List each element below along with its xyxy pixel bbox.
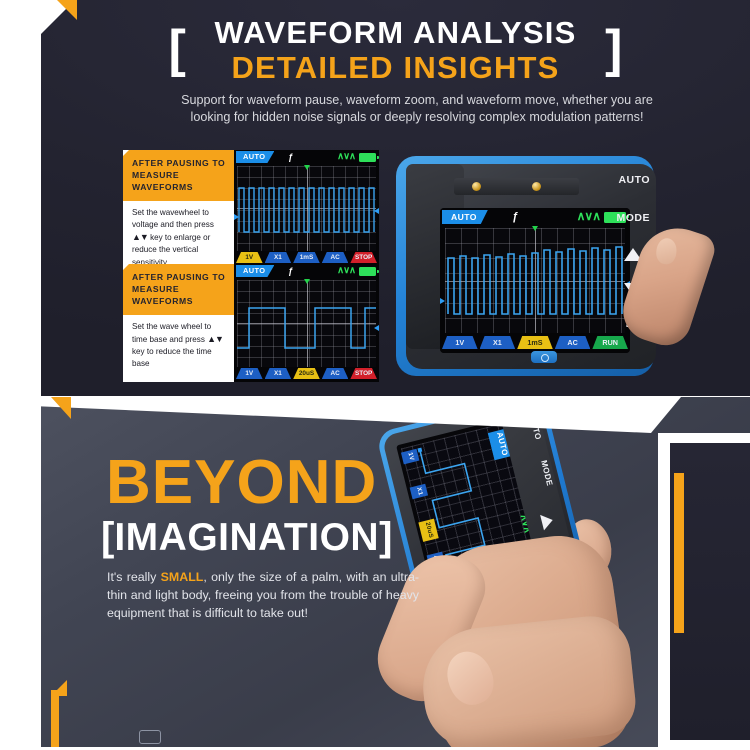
bnc-connector-icon	[472, 182, 481, 191]
next-section-strip	[658, 433, 750, 750]
device-power-button[interactable]	[531, 351, 557, 363]
device-key-mode-rotated[interactable]: MODE	[539, 459, 554, 487]
device-btn-probe[interactable]: X1	[480, 336, 516, 349]
scope-btn-coupling-1[interactable]: AC	[322, 252, 349, 263]
callout-card-2: AFTER PAUSING TO MEASURE WAVEFORMS Set t…	[123, 264, 236, 382]
device-scope-display: AUTO ƒ ∧∨∧ 1V X1 1mS AC RUN	[440, 208, 630, 353]
device-btn-volts[interactable]: 1V	[442, 336, 478, 349]
mini-scope-screen-1: AUTO ƒ ∧∨∧ 1V X1 1mS AC STOP	[234, 150, 379, 266]
scope-display-2: AUTO ƒ ∧∨∧ 1V X1 20uS AC STOP	[234, 264, 379, 382]
device-body: AUTO ƒ ∧∨∧ 1V X1 1mS AC RUN	[406, 164, 656, 369]
beyond-imagination-section: AUTO 1V X1 20uS AC RUN ∧∨∧ AUTO MODE	[41, 397, 750, 750]
scope-btn-volts-1[interactable]: 1V	[236, 252, 263, 263]
bottom-headline-row: [IMAGINATION]	[101, 515, 392, 560]
thumbnail	[440, 645, 501, 712]
callout-card-1-heading: AFTER PAUSING TO MEASURE WAVEFORMS	[123, 150, 236, 201]
waveform-icon: ∧∨∧	[577, 211, 600, 221]
bracket-left-icon: [	[168, 23, 185, 75]
callout-card-2-heading: AFTER PAUSING TO MEASURE WAVEFORMS	[123, 264, 236, 315]
battery-full-icon	[359, 153, 376, 162]
scope-display-1: AUTO ƒ ∧∨∧ 1V X1 1mS AC STOP	[234, 150, 379, 266]
up-down-keys-icon: ▲▼	[207, 334, 223, 344]
frequency-icon: ƒ	[288, 151, 293, 163]
device-mode-badge[interactable]: AUTO	[442, 210, 488, 224]
scope-btn-timebase-2[interactable]: 20uS	[293, 368, 320, 379]
scope-status-bar-2: AUTO ƒ ∧∨∧	[234, 264, 379, 279]
trigger-marker-1	[304, 165, 310, 170]
bracket-right-icon: ]	[605, 23, 622, 75]
card2-text-b: key to reduce the time base	[132, 347, 212, 368]
callout-card-1: AFTER PAUSING TO MEASURE WAVEFORMS Set t…	[123, 150, 236, 266]
fingernail	[655, 237, 678, 265]
top-subtitle: Support for waveform pause, waveform zoo…	[161, 92, 673, 127]
scope-btn-probe-1[interactable]: X1	[265, 252, 292, 263]
product-infographic-page: [ WAVEFORM ANALYSIS ] DETAILED INSIGHTS …	[0, 0, 750, 750]
scope-btn-runstop-2[interactable]: STOP	[350, 368, 377, 379]
device-screen: AUTO ƒ ∧∨∧ 1V X1 1mS AC RUN	[440, 208, 630, 353]
device-level-marker-left	[440, 298, 445, 304]
bottom-headline-beyond: BEYOND	[106, 454, 377, 511]
card2-text-a: Set the wave wheel to time base and pres…	[132, 322, 211, 344]
scope-btn-coupling-2[interactable]: AC	[322, 368, 349, 379]
scope-btn-probe-2[interactable]: X1	[265, 368, 292, 379]
scope-button-bar-2: 1V X1 20uS AC STOP	[234, 368, 379, 382]
left-orange-bar	[51, 690, 59, 750]
mini-scope-screen-2: AUTO ƒ ∧∨∧ 1V X1 20uS AC STOP	[234, 264, 379, 382]
waveform-trace-2	[237, 280, 376, 367]
battery-full-icon	[359, 267, 376, 276]
device-waveform-trace	[445, 228, 625, 333]
left-white-margin	[0, 0, 41, 750]
device-status-bar: AUTO ƒ ∧∨∧	[440, 208, 630, 227]
trigger-marker-2	[304, 279, 310, 284]
card1-text-a: Set the wavewheel to voltage and then pr…	[132, 208, 214, 229]
scope-btn-timebase-1[interactable]: 1mS	[293, 252, 320, 263]
top-headline-group: [ WAVEFORM ANALYSIS ] DETAILED INSIGHTS	[41, 17, 750, 84]
bottom-headline-imagination: IMAGINATION	[114, 516, 379, 559]
level-marker-right-2	[374, 325, 379, 331]
callout-card-1-body: Set the wavewheel to voltage and then pr…	[123, 201, 236, 273]
device-btn-coupling[interactable]: AC	[555, 336, 591, 349]
frequency-icon: ƒ	[512, 210, 518, 224]
scope-btn-volts-2[interactable]: 1V	[236, 368, 263, 379]
device-btn-runstop[interactable]: RUN	[592, 336, 628, 349]
bottom-copy-highlight: SMALL	[161, 570, 204, 584]
bracket-left-icon: [	[101, 515, 114, 559]
headline-bracket-row: [ WAVEFORM ANALYSIS ]	[214, 17, 576, 50]
device-key-down-arrow-icon-rotated[interactable]	[540, 512, 555, 530]
device-key-mode[interactable]: MODE	[617, 212, 651, 224]
device-key-auto[interactable]: AUTO	[618, 174, 650, 186]
bottom-body-copy: It's really SMALL, only the size of a pa…	[107, 569, 419, 623]
frequency-icon: ƒ	[288, 265, 293, 277]
level-marker-left-1	[234, 214, 239, 220]
scope-mode-badge-2[interactable]: AUTO	[236, 265, 274, 277]
headline-line-1: WAVEFORM ANALYSIS	[214, 17, 576, 50]
next-section-orange-accent	[674, 473, 684, 633]
waveform-icon: ∧∨∧	[337, 266, 355, 276]
bnc-connector-icon	[532, 182, 541, 191]
waveform-trace-1	[237, 166, 376, 251]
waveform-icon: ∧∨∧	[337, 152, 355, 162]
scope-btn-runstop-1[interactable]: STOP	[350, 252, 377, 263]
waveform-analysis-section: [ WAVEFORM ANALYSIS ] DETAILED INSIGHTS …	[41, 0, 750, 396]
level-marker-right-1	[374, 208, 379, 214]
scope-status-bar-1: AUTO ƒ ∧∨∧	[234, 150, 379, 165]
bottom-copy-a: It's really	[107, 570, 161, 584]
device-btn-timebase[interactable]: 1mS	[517, 336, 553, 349]
scope-mode-badge-1[interactable]: AUTO	[236, 151, 274, 163]
callout-card-2-body: Set the wave wheel to time base and pres…	[123, 315, 236, 375]
bracket-right-icon: ]	[379, 515, 392, 559]
device-top-connector-strip	[454, 178, 579, 195]
up-down-keys-icon: ▲▼	[132, 232, 148, 242]
bottom-badge-outline	[139, 730, 161, 744]
corner-accent-orange-bottom-panel	[51, 397, 71, 419]
headline-line-2: DETAILED INSIGHTS	[41, 52, 750, 85]
oscilloscope-device-front: AUTO ƒ ∧∨∧ 1V X1 1mS AC RUN	[386, 138, 696, 388]
